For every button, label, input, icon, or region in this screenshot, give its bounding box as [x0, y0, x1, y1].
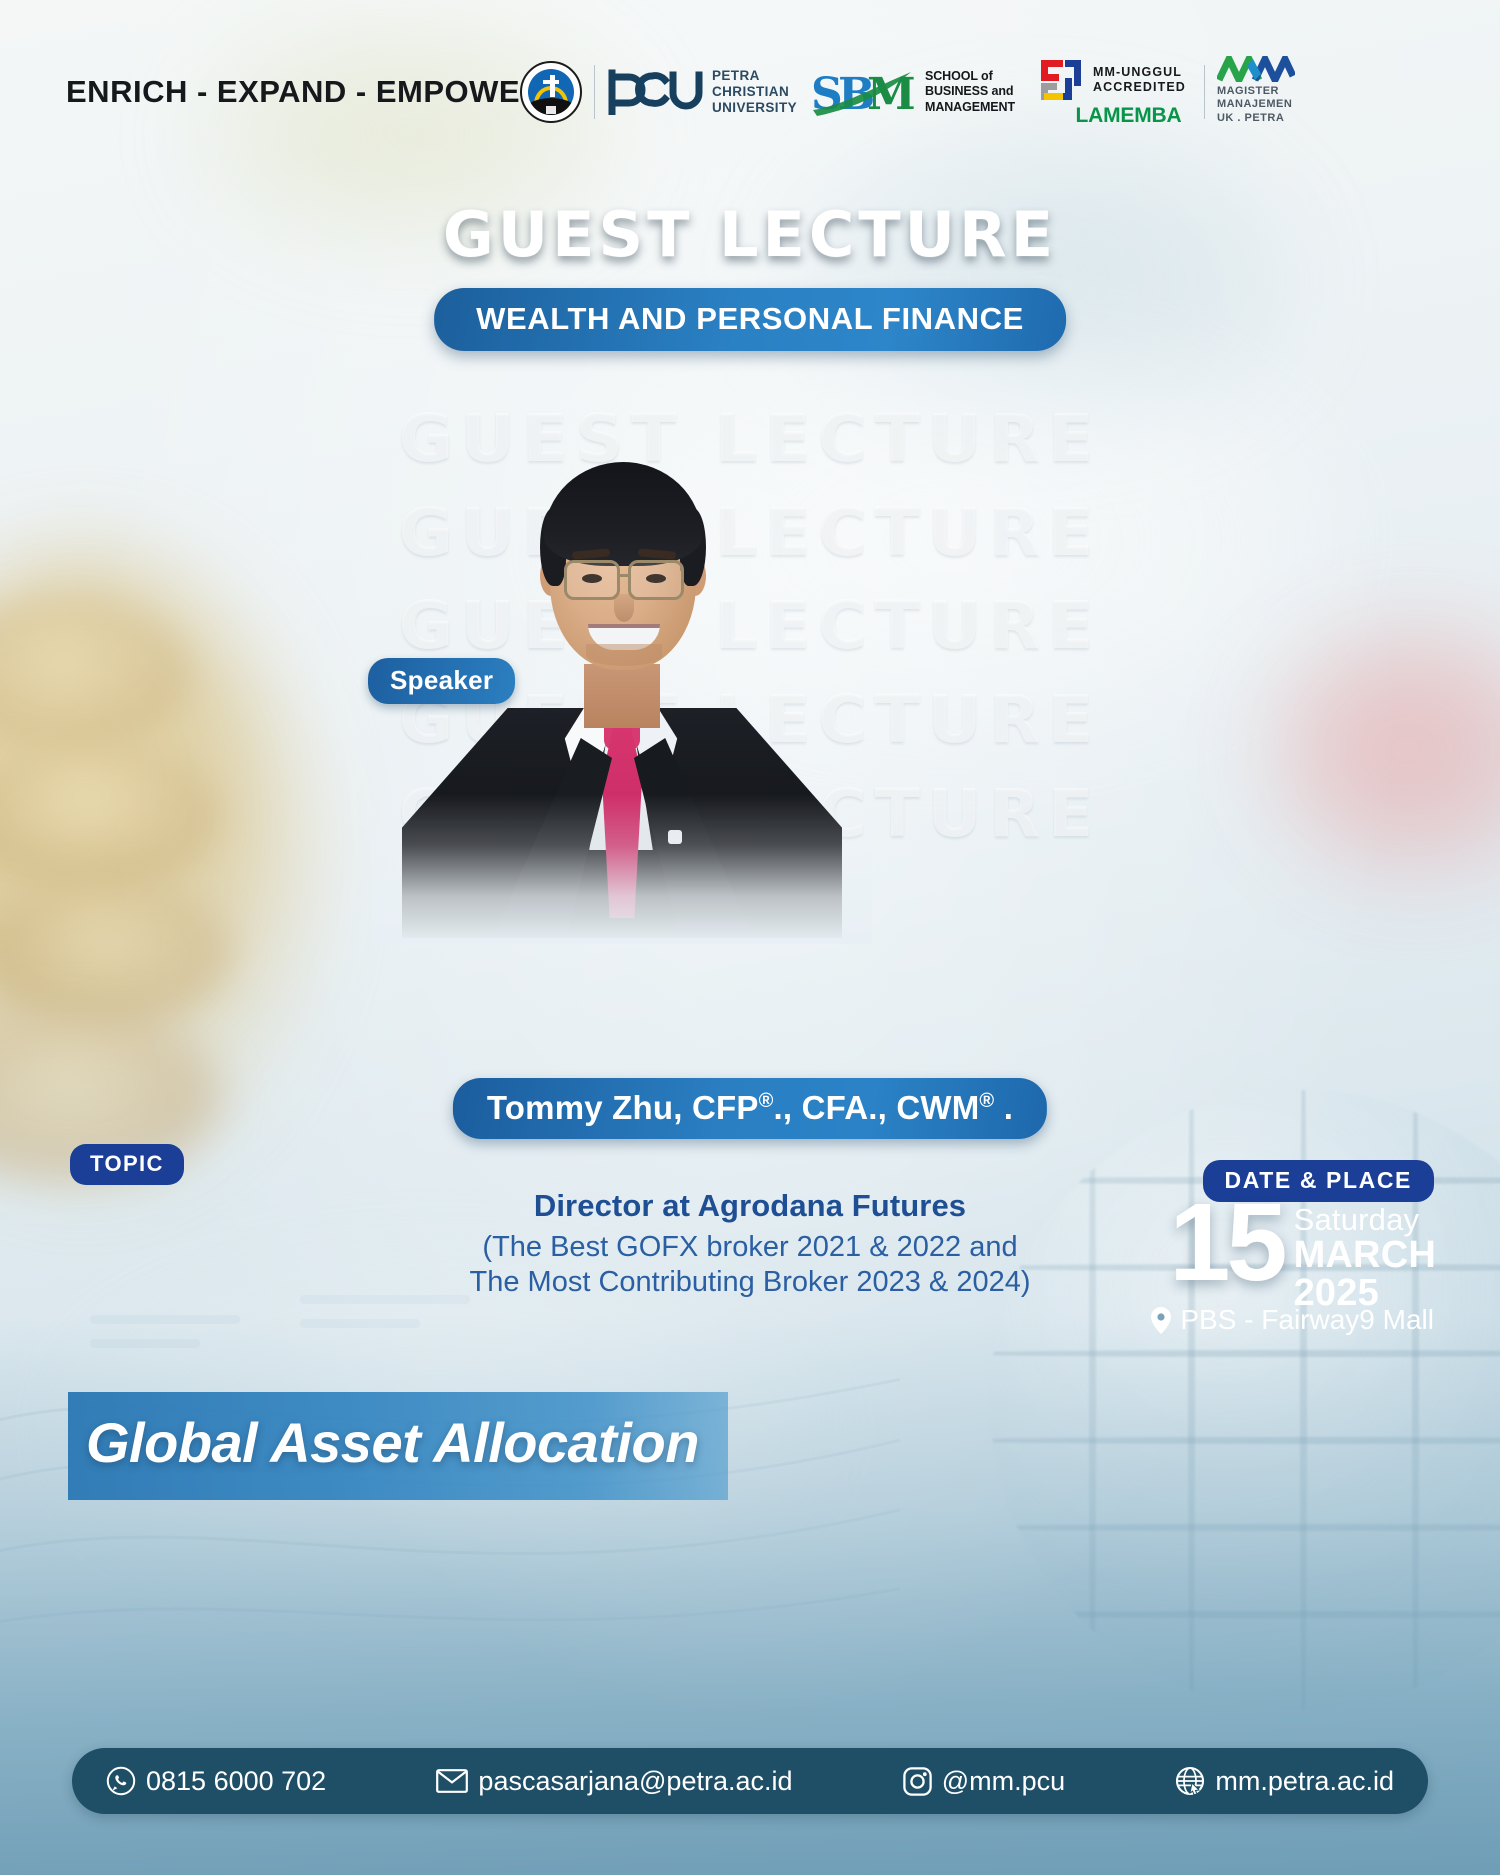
photo-glasses-right: [628, 560, 684, 600]
event-day-of-week: Saturday: [1294, 1204, 1436, 1236]
date-block: 15 Saturday MARCH 2025: [1169, 1196, 1436, 1314]
contact-website[interactable]: mm.petra.ac.id: [1175, 1766, 1394, 1797]
contact-email-label: pascasarjana@petra.ac.id: [478, 1766, 792, 1797]
event-month: MARCH: [1294, 1236, 1436, 1275]
sbm-text-block: SCHOOL of BUSINESS and MANAGEMENT: [925, 69, 1015, 115]
photo-hair: [544, 462, 702, 566]
instagram-icon: [903, 1767, 932, 1796]
logo-divider: [1204, 65, 1205, 119]
sbm-line-3: MANAGEMENT: [925, 100, 1015, 115]
lamemba-text-block: MM-UNGGUL ACCREDITED: [1093, 65, 1186, 95]
event-venue: PBS - Fairway9 Mall: [1151, 1304, 1434, 1336]
mm-petra-line-3: UK . PETRA: [1217, 112, 1292, 125]
photo-chin: [586, 644, 662, 666]
pcu-wordmark-icon: [607, 69, 703, 115]
poster-header: ENRICH - EXPAND - EMPOWER: [0, 0, 1500, 160]
speaker-badge: Speaker: [368, 658, 515, 704]
logo-petra-seal: [520, 56, 582, 128]
logo-lamemba: MM-UNGGUL ACCREDITED LAMEMBA: [1037, 56, 1186, 128]
photo-nose: [614, 594, 634, 622]
tagline: ENRICH - EXPAND - EMPOWER: [66, 74, 543, 110]
photo-bottom-fade: [372, 794, 872, 944]
registered-mark-2: ®: [979, 1090, 994, 1112]
contact-whatsapp-label: 0815 6000 702: [146, 1766, 326, 1797]
sbm-line-1: SCHOOL of: [925, 69, 1015, 84]
speaker-credentials: ., CFA., CWM: [774, 1089, 980, 1126]
hero-subtitle-pill: WEALTH AND PERSONAL FINANCE: [434, 288, 1066, 351]
logo-mm-petra: MAGISTER MANAJEMEN UK . PETRA: [1217, 56, 1295, 128]
photo-glasses-left: [564, 560, 620, 600]
mm-petra-mark-icon: [1217, 56, 1295, 82]
event-day: 15: [1169, 1196, 1283, 1291]
location-pin-icon: [1151, 1307, 1171, 1334]
lamemba-mark-icon: [1037, 56, 1085, 104]
petra-seal-icon: [520, 61, 582, 123]
mm-petra-line-2: MANAJEMEN: [1217, 98, 1292, 111]
pcu-line-3: UNIVERSITY: [712, 100, 797, 116]
credentials-period: .: [994, 1089, 1013, 1126]
lamemba-line-1: MM-UNGGUL: [1093, 65, 1186, 80]
lamemba-line-2: ACCREDITED: [1093, 80, 1186, 95]
page-title: GUEST LECTURE: [0, 198, 1500, 271]
pcu-line-1: PETRA: [712, 68, 797, 84]
sbm-wordmark-icon: S B M: [811, 66, 915, 118]
email-icon: [436, 1769, 468, 1793]
photo-glasses-bridge: [619, 574, 631, 577]
contact-footer: 0815 6000 702 pascasarjana@petra.ac.id @…: [72, 1748, 1428, 1814]
pcu-text-block: PETRA CHRISTIAN UNIVERSITY: [712, 68, 797, 116]
registered-mark-1: ®: [759, 1090, 774, 1112]
whatsapp-icon: [106, 1766, 136, 1796]
logo-pcu: PETRA CHRISTIAN UNIVERSITY: [607, 56, 797, 128]
poster-canvas: ENRICH - EXPAND - EMPOWER: [0, 0, 1500, 1875]
mm-petra-line-1: MAGISTER: [1217, 85, 1292, 98]
mm-petra-text-block: MAGISTER MANAJEMEN UK . PETRA: [1217, 85, 1292, 125]
speaker-name: Tommy Zhu, CFP: [487, 1089, 759, 1126]
logo-divider: [594, 65, 595, 119]
logo-row: PETRA CHRISTIAN UNIVERSITY S B M SCHOOL …: [520, 52, 1295, 132]
event-venue-label: PBS - Fairway9 Mall: [1180, 1304, 1434, 1336]
contact-website-label: mm.petra.ac.id: [1215, 1766, 1394, 1797]
contact-whatsapp[interactable]: 0815 6000 702: [106, 1766, 326, 1797]
contact-email[interactable]: pascasarjana@petra.ac.id: [436, 1766, 792, 1797]
logo-sbm: S B M SCHOOL of BUSINESS and MANAGEMENT: [811, 56, 1015, 128]
contact-instagram[interactable]: @mm.pcu: [903, 1766, 1065, 1797]
contact-instagram-label: @mm.pcu: [942, 1766, 1065, 1797]
pcu-line-2: CHRISTIAN: [712, 84, 797, 100]
topic-title: Global Asset Allocation: [86, 1410, 699, 1475]
topic-tag: TOPIC: [70, 1144, 184, 1185]
lamemba-word: LAMEMBA: [1076, 105, 1182, 126]
photo-neck: [584, 664, 660, 728]
sbm-line-2: BUSINESS and: [925, 84, 1015, 99]
globe-icon: [1175, 1766, 1205, 1796]
speaker-name-pill: Tommy Zhu, CFP®., CFA., CWM® .: [453, 1078, 1047, 1139]
